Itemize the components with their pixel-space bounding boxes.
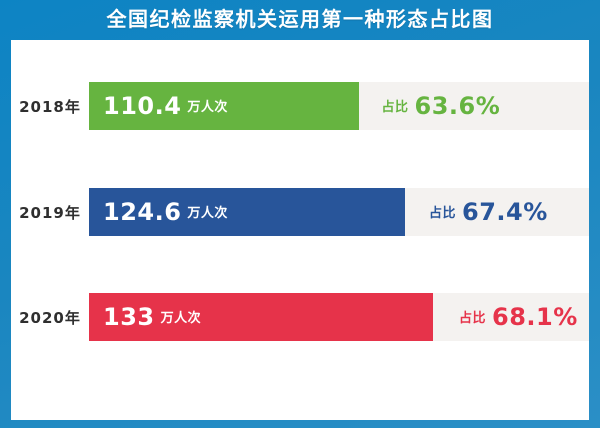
- percent-label-2019: 占比: [429, 206, 456, 219]
- chart-row-2020: 2020年 133 万人次 占比 68.1%: [11, 293, 589, 341]
- bar-value-2019: 124.6: [103, 200, 181, 224]
- chart-row-2018: 2018年 110.4 万人次 占比 63.6%: [11, 82, 589, 130]
- chart-card: 2018年 110.4 万人次 占比 63.6% 2019年: [11, 40, 589, 420]
- percent-group-2020: 占比 68.1%: [459, 293, 578, 341]
- percent-group-2019: 占比 67.4%: [429, 188, 548, 236]
- bar-unit-2018: 万人次: [187, 100, 228, 113]
- bar-unit-2019: 万人次: [187, 206, 228, 219]
- bar-2018: 110.4 万人次: [89, 82, 359, 130]
- bar-2020: 133 万人次: [89, 293, 433, 341]
- bar-unit-2020: 万人次: [161, 311, 202, 324]
- percent-value-2020: 68.1%: [492, 305, 578, 329]
- percent-group-2018: 占比 63.6%: [382, 82, 501, 130]
- bar-track-2018: 110.4 万人次 占比 63.6%: [89, 82, 589, 130]
- chart-row-2019: 2019年 124.6 万人次 占比 67.4%: [11, 188, 589, 236]
- percent-value-2019: 67.4%: [462, 200, 548, 224]
- bar-chart: 2018年 110.4 万人次 占比 63.6% 2019年: [11, 40, 589, 420]
- percent-label-2018: 占比: [382, 100, 409, 113]
- category-label-2018: 2018年: [11, 96, 89, 117]
- percent-value-2018: 63.6%: [415, 94, 501, 118]
- infographic-frame: 全国纪检监察机关运用第一种形态占比图 2018年 110.4 万人次 占比 63…: [0, 0, 600, 428]
- category-label-2019: 2019年: [11, 202, 89, 223]
- bar-value-2020: 133: [103, 305, 155, 329]
- percent-label-2020: 占比: [459, 311, 486, 324]
- bar-track-2019: 124.6 万人次 占比 67.4%: [89, 188, 589, 236]
- page-title: 全国纪检监察机关运用第一种形态占比图: [107, 10, 494, 30]
- title-band: 全国纪检监察机关运用第一种形态占比图: [0, 0, 600, 40]
- bar-track-2020: 133 万人次 占比 68.1%: [89, 293, 589, 341]
- bar-2019: 124.6 万人次: [89, 188, 405, 236]
- bar-value-2018: 110.4: [103, 94, 181, 118]
- category-label-2020: 2020年: [11, 307, 89, 328]
